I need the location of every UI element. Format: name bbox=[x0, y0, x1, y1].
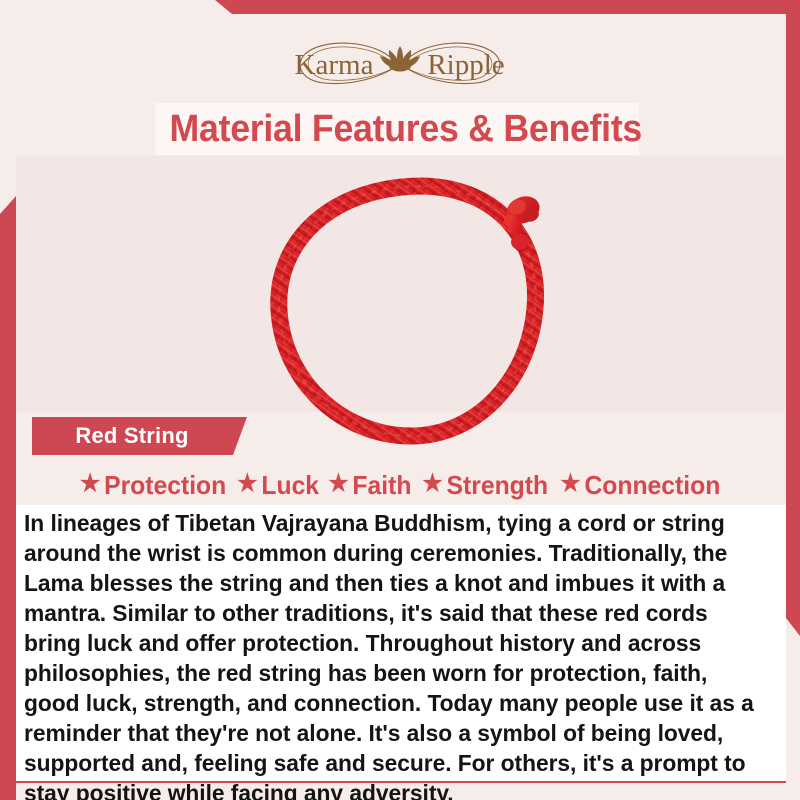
feature-label: Luck bbox=[261, 470, 319, 501]
decor-band-left bbox=[0, 196, 16, 800]
brand-logo: Karma Ripple bbox=[0, 36, 800, 99]
feature-label: Strength bbox=[446, 470, 548, 501]
brand-name-left: Karma bbox=[295, 49, 374, 81]
feature-label: Faith bbox=[352, 470, 411, 501]
infographic-page: Karma Ripple Material Features & Benefit… bbox=[0, 0, 800, 800]
decor-band-right bbox=[786, 0, 800, 636]
material-name-label: Red String bbox=[32, 417, 232, 455]
star-icon: ★ bbox=[237, 472, 257, 496]
product-image-red-string-bracelet bbox=[255, 168, 585, 458]
star-icon: ★ bbox=[328, 472, 348, 496]
star-icon: ★ bbox=[560, 472, 580, 496]
feature-label: Connection bbox=[584, 470, 720, 501]
feature-item-luck: ★ Luck bbox=[237, 470, 319, 501]
lotus-icon bbox=[380, 46, 420, 72]
brand-name-right: Ripple bbox=[427, 49, 504, 81]
star-icon: ★ bbox=[79, 472, 99, 496]
feature-item-connection: ★ Connection bbox=[560, 470, 720, 501]
feature-list: ★ Protection ★ Luck ★ Faith ★ Strength ★… bbox=[16, 466, 784, 504]
description-paragraph: In lineages of Tibetan Vajrayana Buddhis… bbox=[24, 508, 757, 800]
page-title: Material Features & Benefits bbox=[170, 103, 625, 155]
bracelet-knot bbox=[502, 192, 543, 250]
bracelet-loop bbox=[279, 186, 536, 436]
feature-item-faith: ★ Faith bbox=[328, 470, 411, 501]
feature-item-strength: ★ Strength bbox=[422, 470, 548, 501]
feature-label: Protection bbox=[104, 470, 226, 501]
brand-logo-graphic: Karma Ripple bbox=[250, 36, 550, 94]
decor-band-top bbox=[212, 0, 800, 14]
star-icon: ★ bbox=[422, 472, 442, 496]
feature-item-protection: ★ Protection bbox=[79, 470, 225, 501]
